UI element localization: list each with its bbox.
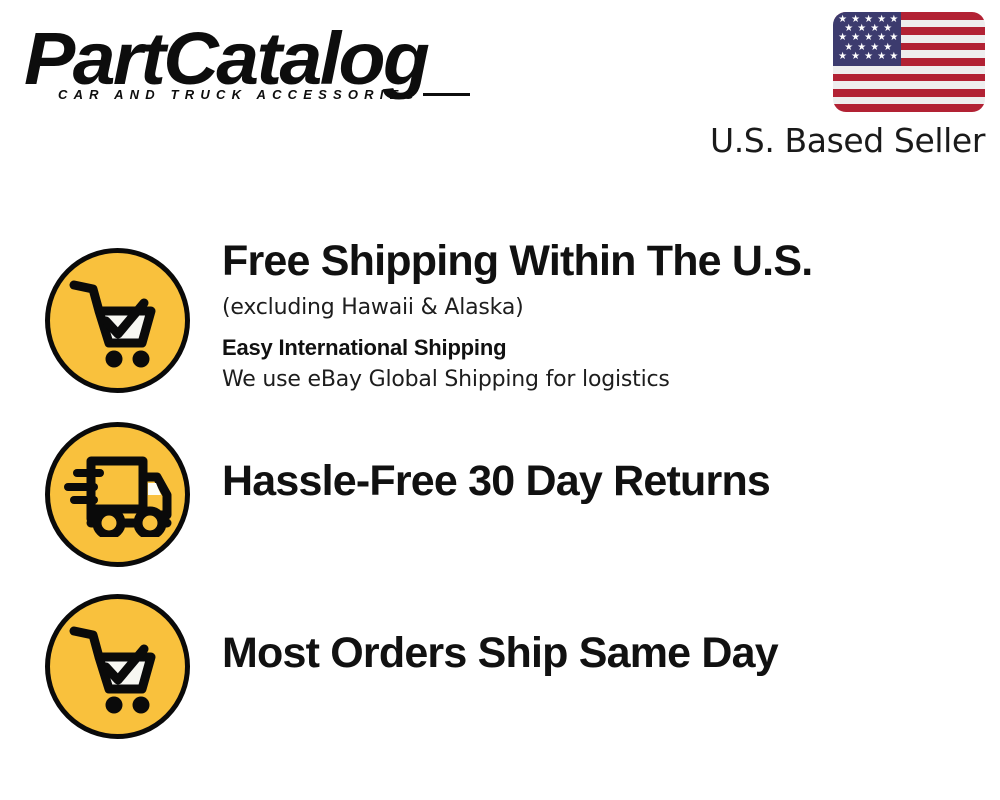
feature-subtext: (excluding Hawaii & Alaska)	[222, 293, 1000, 323]
feature-row: Hassle-Free 30 Day Returns	[0, 404, 1000, 576]
feature-row: Most Orders Ship Same Day	[0, 576, 1000, 748]
brand-tagline-rule	[423, 93, 470, 96]
feature-text-block: Free Shipping Within The U.S. (excluding…	[190, 232, 1000, 395]
flag-stars: ★ ★ ★ ★ ★ ★ ★ ★ ★ ★ ★ ★ ★ ★ ★ ★ ★ ★ ★ ★	[833, 12, 901, 66]
delivery-truck-icon	[45, 422, 190, 567]
brand-tagline: CAR AND TRUCK ACCESSORIES	[58, 88, 419, 102]
feature-headline: Hassle-Free 30 Day Returns	[222, 456, 1000, 506]
feature-text-block: Hassle-Free 30 Day Returns	[190, 404, 1000, 506]
us-flag-icon: ★ ★ ★ ★ ★ ★ ★ ★ ★ ★ ★ ★ ★ ★ ★ ★ ★ ★ ★ ★	[833, 12, 985, 112]
feature-headline: Free Shipping Within The U.S.	[222, 236, 1000, 286]
feature-row: Free Shipping Within The U.S. (excluding…	[0, 232, 1000, 404]
shopping-cart-check-icon	[45, 594, 190, 739]
feature-text-block: Most Orders Ship Same Day	[190, 576, 1000, 678]
brand-tagline-row: CAR AND TRUCK ACCESSORIES	[58, 88, 470, 102]
feature-subtext-plain: We use eBay Global Shipping for logistic…	[222, 365, 1000, 395]
feature-headline: Most Orders Ship Same Day	[222, 628, 1000, 678]
shopping-cart-check-icon	[45, 248, 190, 393]
seller-badge: ★ ★ ★ ★ ★ ★ ★ ★ ★ ★ ★ ★ ★ ★ ★ ★ ★ ★ ★ ★	[685, 12, 985, 159]
flag-canton: ★ ★ ★ ★ ★ ★ ★ ★ ★ ★ ★ ★ ★ ★ ★ ★ ★ ★ ★ ★	[833, 12, 901, 66]
brand-wordmark: PartCatalog	[24, 22, 513, 96]
seller-label: U.S. Based Seller	[685, 123, 985, 159]
feature-list: Free Shipping Within The U.S. (excluding…	[0, 232, 1000, 748]
feature-subtext-strong: Easy International Shipping	[222, 333, 1000, 363]
